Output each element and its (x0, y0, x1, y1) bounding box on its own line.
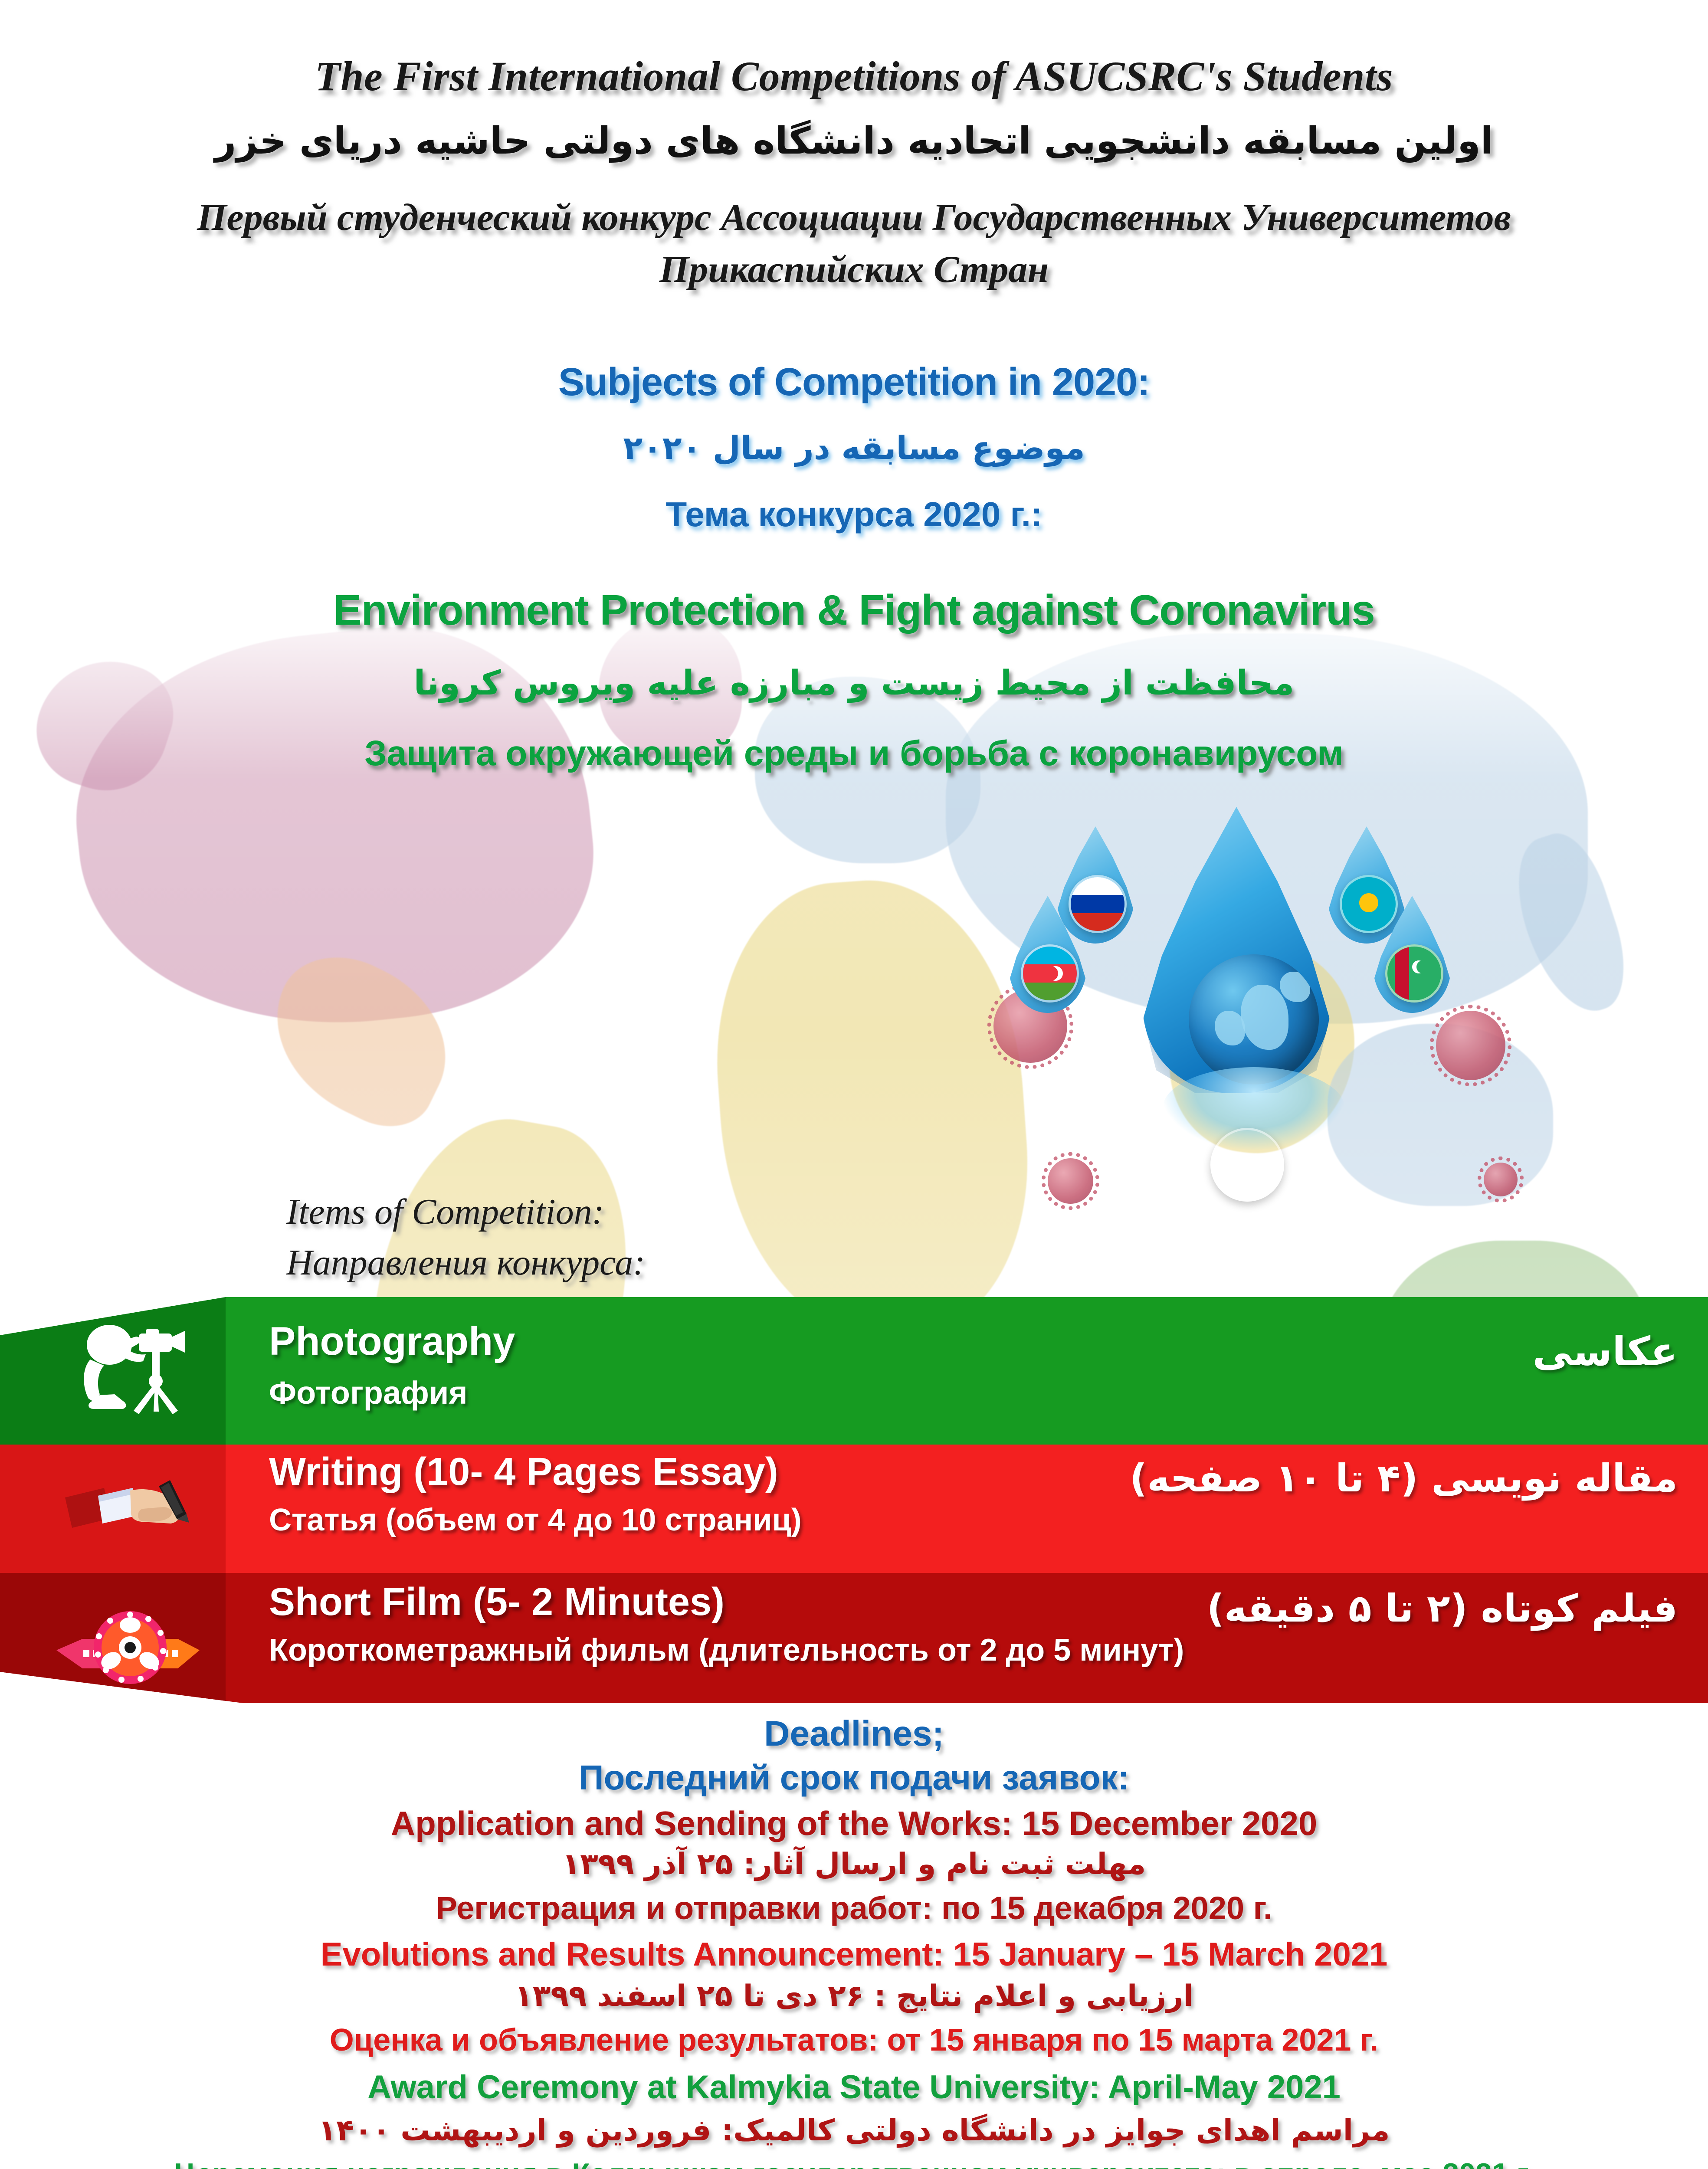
azerbaijan-flag (1021, 944, 1079, 1003)
poster-title-english: The First International Competitions of … (0, 52, 1708, 100)
theme-russian: Защита окружающей среды и борьба с корон… (0, 733, 1708, 774)
deadline-row-0-english: Application and Sending of the Works: 15… (0, 1804, 1708, 1843)
film-reel-icon (52, 1599, 208, 1692)
globe-icon (1189, 954, 1319, 1084)
subjects-heading-russian: Тема конкурса 2020 г.: (0, 495, 1708, 534)
coronavirus-particle-icon (1048, 1158, 1093, 1204)
deadline-row-6-english: Award Ceremony at Kalmykia State Univers… (0, 2068, 1708, 2106)
deadline-row-2-russian: Регистрация и отправки работ: по 15 дека… (0, 1890, 1708, 1927)
theme-english: Environment Protection & Fight against C… (0, 586, 1708, 635)
writing-hand-icon (56, 1467, 200, 1556)
category-label-russian: Статья (объем от 4 до 10 страниц) (269, 1504, 802, 1536)
deadline-row-3-english: Evolutions and Results Announcement: 15 … (0, 1936, 1708, 1973)
deadlines-heading-russian: Последний срок подачи заявок: (0, 1758, 1708, 1798)
turkmenistan-flag (1385, 944, 1443, 1003)
iran-flag (1210, 1128, 1284, 1202)
category-label-persian: مقاله نویسی (۴ تا ۱۰ صفحه) (1130, 1456, 1678, 1501)
category-label-english: Photography (269, 1321, 515, 1361)
items-heading-english: Items of Competition: (286, 1191, 604, 1233)
poster-title-russian-line2: Прикаспийских Стран (0, 247, 1708, 292)
russia-flag (1069, 875, 1127, 933)
droplet-russia (1056, 826, 1134, 944)
water-droplet-artwork (946, 781, 1597, 1327)
deadline-row-8-russian: Церемония награждения в Калмыцком госуда… (0, 2157, 1708, 2169)
category-bar-writing[interactable]: Writing (10- 4 Pages Essay) Статья (объе… (0, 1445, 1708, 1573)
kazakhstan-flag (1340, 875, 1398, 933)
category-label-english: Writing (10- 4 Pages Essay) (269, 1452, 802, 1491)
deadline-row-4-persian: ارزیابی و اعلام نتایج : ۲۶ دی تا ۲۵ اسفن… (0, 1979, 1708, 2013)
category-label-russian: Короткометражный фильм (длительность от … (269, 1635, 1184, 1666)
items-heading-russian: Направления конкурса: (286, 1242, 645, 1284)
category-bar-photography[interactable]: Photography Фотография عکاسی (0, 1297, 1708, 1445)
poster-title-persian: اولین مسابقه دانشجویی اتحادیه دانشگاه ها… (0, 119, 1708, 163)
category-label-english: Short Film (5- 2 Minutes) (269, 1583, 1184, 1622)
poster-canvas: The First International Competitions of … (0, 0, 1708, 2169)
photographer-icon (69, 1318, 204, 1420)
deadlines-heading-english: Deadlines; (0, 1714, 1708, 1754)
deadline-row-1-persian: مهلت ثبت نام و ارسال آثار: ۲۵ آذر ۱۳۹۹ (0, 1847, 1708, 1881)
subjects-heading-english: Subjects of Competition in 2020: (0, 360, 1708, 405)
category-label-persian: عکاسی (1533, 1328, 1678, 1375)
deadline-row-7-persian: مراسم اهدای جوایز در دانشگاه دولتی کالمی… (0, 2113, 1708, 2148)
category-label-russian: Фотография (269, 1377, 515, 1409)
coronavirus-particle-icon (1484, 1163, 1518, 1196)
droplet-kazakhstan (1328, 826, 1406, 944)
category-label-persian: فیلم کوتاه (۲ تا ۵ دقیقه) (1207, 1586, 1678, 1631)
poster-title-russian-line1: Первый студенческий конкурс Ассоциации Г… (0, 195, 1708, 240)
subjects-heading-persian: موضوع مسابقه در سال ۲۰۲۰ (0, 429, 1708, 467)
theme-persian: محافظت از محیط زیست و مبارزه علیه ویروس … (0, 664, 1708, 703)
deadline-row-5-russian: Оценка и объявление результатов: от 15 я… (0, 2022, 1708, 2058)
coronavirus-particle-icon (1436, 1011, 1505, 1080)
category-bar-short-film[interactable]: Short Film (5- 2 Minutes) Короткометражн… (0, 1573, 1708, 1703)
